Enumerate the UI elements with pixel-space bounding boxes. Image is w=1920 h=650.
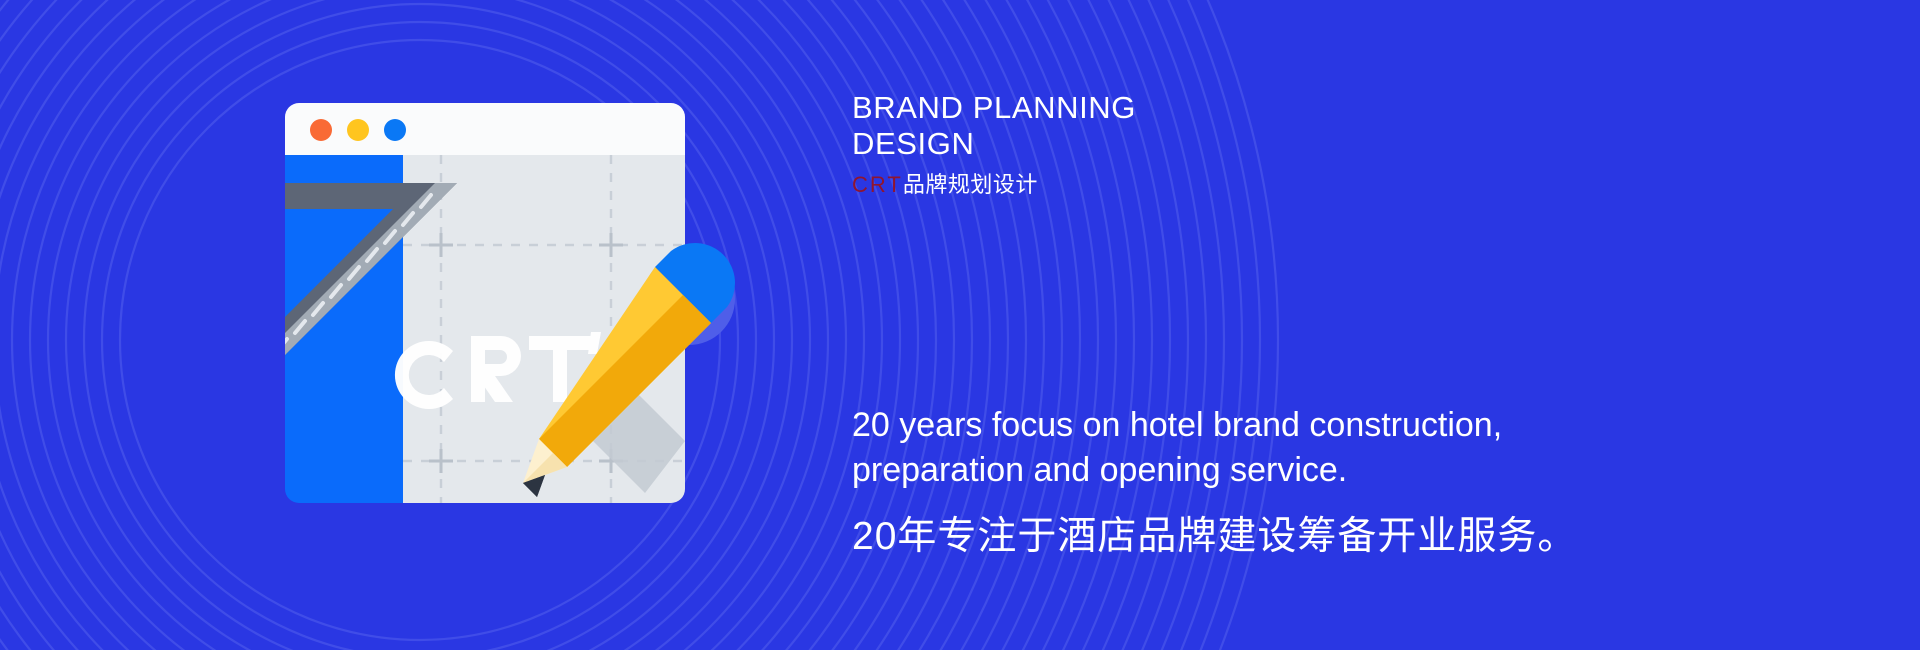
banner-copy: BRAND PLANNING DESIGN CRT品牌规划设计 20 years… <box>852 0 1852 650</box>
crt-brand-mark: CRT <box>852 172 903 197</box>
brand-design-illustration <box>285 103 745 563</box>
subtitle: CRT品牌规划设计 <box>852 171 1038 199</box>
tagline-chinese: 20年专注于酒店品牌建设筹备开业服务。 <box>852 512 1577 562</box>
headline: BRAND PLANNING DESIGN <box>852 90 1312 162</box>
tagline-english: 20 years focus on hotel brand constructi… <box>852 403 1732 493</box>
hero-banner: BRAND PLANNING DESIGN CRT品牌规划设计 20 years… <box>0 0 1920 650</box>
subtitle-chinese: 品牌规划设计 <box>903 172 1038 197</box>
